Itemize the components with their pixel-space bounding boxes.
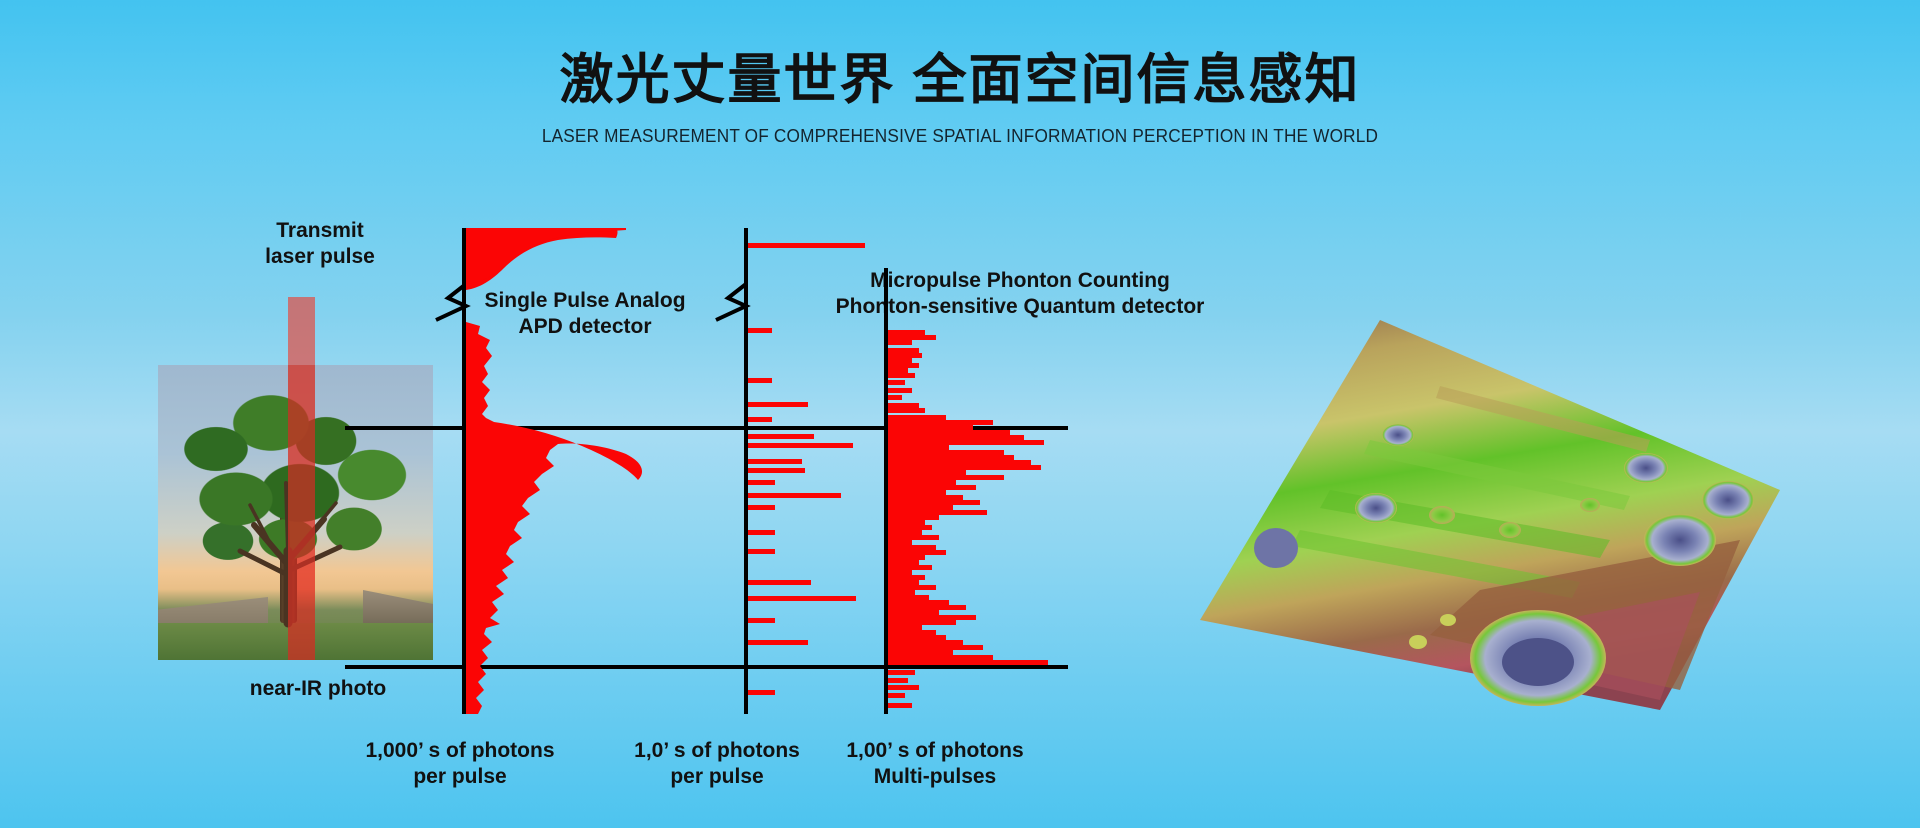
photon-return-bar xyxy=(888,388,912,393)
caption-c-line1: 1,00’ s of photons xyxy=(820,738,1050,764)
caption-c-line2: Multi-pulses xyxy=(820,764,1050,790)
photon-return-bar xyxy=(748,505,775,510)
transmit-label-line2: laser pulse xyxy=(220,244,420,270)
caption-analog: 1,000’ s of photons per pulse xyxy=(340,738,580,791)
analog-canopy-ground-return xyxy=(466,322,666,714)
terrain-3d-model: ★ xyxy=(1180,290,1800,720)
photon-return-bar xyxy=(748,618,775,623)
photon-return-bar xyxy=(748,549,775,554)
photon-return-bar xyxy=(888,670,915,675)
photon-return-bar xyxy=(748,493,841,498)
photon-return-bar xyxy=(748,530,775,535)
photon-return-bar xyxy=(888,395,902,400)
photon-return-bar xyxy=(888,685,919,690)
photon-return-bar xyxy=(748,580,811,585)
photon-return-bar xyxy=(748,596,856,601)
near-ir-photo-label: near-IR photo xyxy=(218,676,418,702)
caption-b-line2: per pulse xyxy=(608,764,826,790)
photon-return-bar xyxy=(748,434,814,439)
photon-return-bar xyxy=(748,328,772,333)
photon-return-bar xyxy=(888,373,915,378)
photon-return-bar xyxy=(748,243,865,248)
panel-a-title: Single Pulse Analog APD detector xyxy=(440,288,730,339)
caption-sparse: 1,0’ s of photons per pulse xyxy=(608,738,826,791)
transmit-laser-label: Transmit laser pulse xyxy=(220,218,420,269)
lidar-diagram: Single Pulse Analog APD detector Micropu… xyxy=(0,0,1920,828)
photon-return-bar xyxy=(748,402,808,407)
photon-return-bar xyxy=(748,480,775,485)
photon-return-bar xyxy=(888,693,905,698)
photon-return-bar xyxy=(888,703,912,708)
photon-return-bar xyxy=(888,408,925,413)
photon-return-bar xyxy=(888,340,912,345)
photon-return-bar xyxy=(748,417,772,422)
photon-return-bar xyxy=(748,459,802,464)
panel-a-title-line1: Single Pulse Analog xyxy=(440,288,730,314)
transmit-label-line1: Transmit xyxy=(220,218,420,244)
panel-c-title-line2: Phonton-sensitive Quantum detector xyxy=(800,294,1240,320)
photon-return-bar xyxy=(888,380,905,385)
photon-return-bar xyxy=(748,690,775,695)
analog-first-return xyxy=(466,228,666,284)
caption-a-line1: 1,000’ s of photons xyxy=(340,738,580,764)
photon-return-bar xyxy=(748,378,772,383)
photon-return-bar xyxy=(748,443,853,448)
photon-return-bar xyxy=(748,468,805,473)
waveform-micropulse-photon-counting xyxy=(888,330,1068,710)
caption-b-line1: 1,0’ s of photons xyxy=(608,738,826,764)
transmit-laser-beam xyxy=(288,297,315,660)
photon-return-bar xyxy=(748,640,808,645)
axis-break-sparse xyxy=(712,282,752,328)
caption-a-line2: per pulse xyxy=(340,764,580,790)
panel-a-title-line2: APD detector xyxy=(440,314,730,340)
photon-return-bar xyxy=(888,660,1048,665)
photon-return-bar xyxy=(888,678,908,683)
panel-c-title: Micropulse Phonton Counting Phonton-sens… xyxy=(800,268,1240,319)
panel-c-title-line1: Micropulse Phonton Counting xyxy=(800,268,1240,294)
caption-micropulse: 1,00’ s of photons Multi-pulses xyxy=(820,738,1050,791)
terrain-surface xyxy=(1180,290,1800,720)
